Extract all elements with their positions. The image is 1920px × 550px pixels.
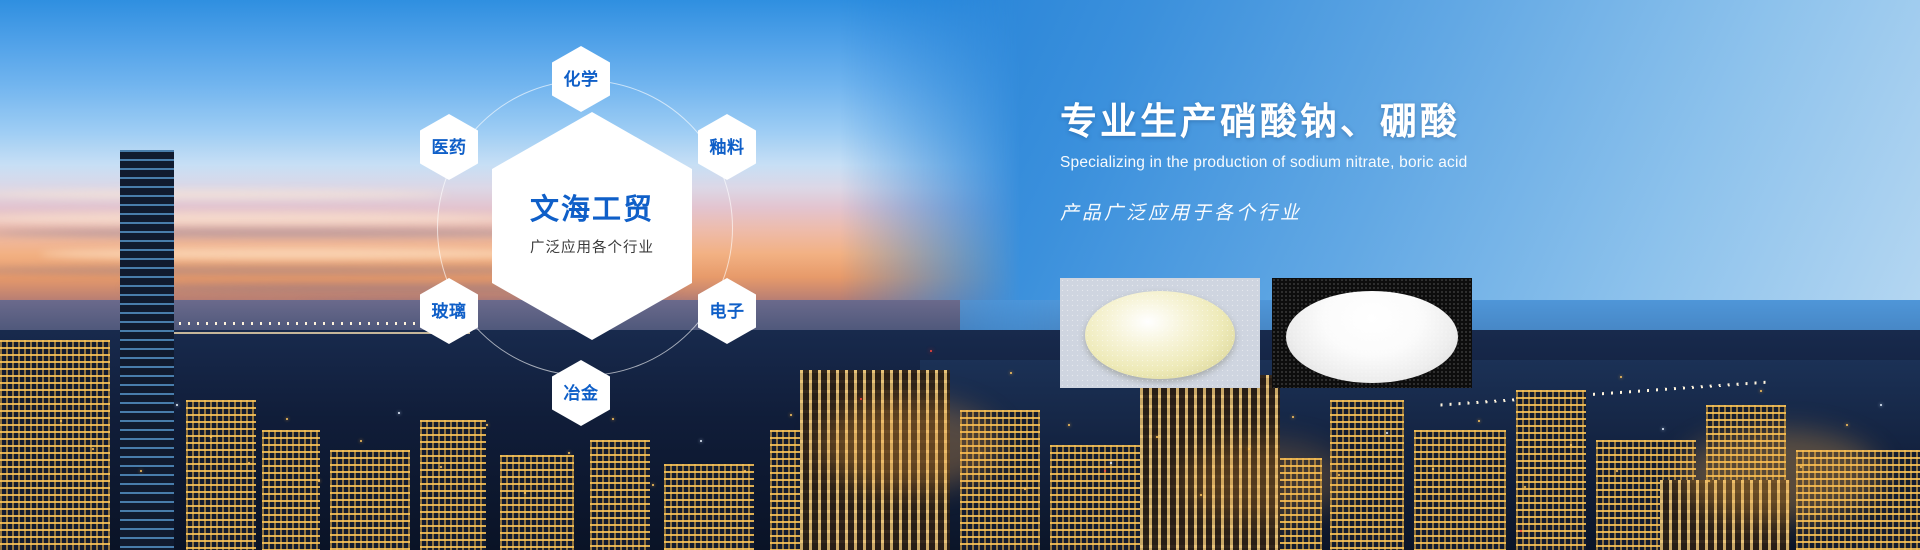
background-cityscape-image [0,0,1920,550]
hex-node-label: 冶金 [564,385,599,402]
hex-node-label: 化学 [564,71,599,88]
hex-node-label: 玻璃 [432,303,467,320]
brand-subtitle: 广泛应用各个行业 [530,236,654,257]
marketing-copy: 专业生产硝酸钠、硼酸 Specializing in the productio… [1060,100,1820,225]
product-photo-boric-acid[interactable] [1272,278,1472,388]
subheadline: Specializing in the production of sodium… [1060,154,1820,172]
brand-name: 文海工贸 [530,195,654,227]
promo-banner: 文海工贸 广泛应用各个行业 化学 釉料 电子 冶金 玻璃 医药 专业生产硝酸钠、… [0,0,1920,550]
hex-node-label: 釉料 [710,139,745,156]
hex-node-label: 电子 [710,303,745,320]
powder-speckle-texture [1272,278,1472,388]
industry-hexagon-diagram: 文海工贸 广泛应用各个行业 化学 釉料 电子 冶金 玻璃 医药 [430,30,830,450]
product-photo-group [1060,278,1472,388]
city-lights [0,0,1920,550]
hex-node-label: 医药 [432,139,467,156]
product-photo-sodium-nitrate[interactable] [1060,278,1260,388]
tagline: 产品广泛应用于各个行业 [1060,198,1820,225]
headline: 专业生产硝酸钠、硼酸 [1060,100,1820,144]
powder-speckle-texture [1060,278,1260,388]
